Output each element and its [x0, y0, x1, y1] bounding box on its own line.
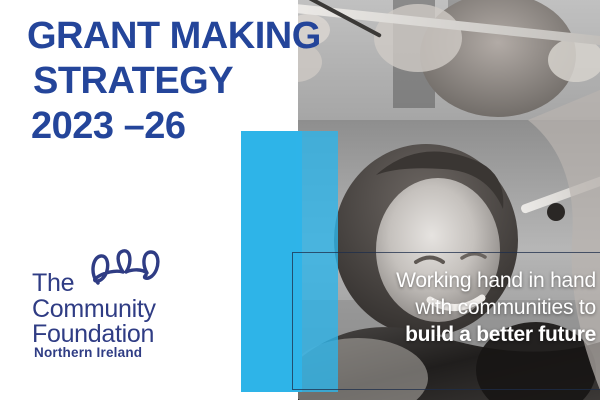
page-title: GRANT MAKING STRATEGY 2023 –26	[27, 18, 427, 146]
headline-line-1: GRANT MAKING	[27, 18, 427, 55]
headline-line-3: 2023 –26	[31, 108, 427, 145]
strapline-line-2: with communities to	[300, 295, 596, 322]
strapline-line-3: build a better future	[300, 322, 596, 349]
strapline: Working hand in hand with communities to…	[300, 268, 600, 349]
strapline-line-1: Working hand in hand	[300, 268, 596, 295]
logo-line-the: The	[32, 271, 156, 297]
grant-making-strategy-banner: GRANT MAKING STRATEGY 2023 –26 The Commu…	[0, 0, 600, 400]
headline-line-2: STRATEGY	[33, 63, 427, 100]
logo-line-foundation: Foundation	[32, 322, 156, 348]
logo-subtitle: Northern Ireland	[34, 345, 142, 360]
logo-line-community: Community	[32, 297, 156, 323]
logo-wordmark: The Community Foundation	[32, 271, 156, 348]
